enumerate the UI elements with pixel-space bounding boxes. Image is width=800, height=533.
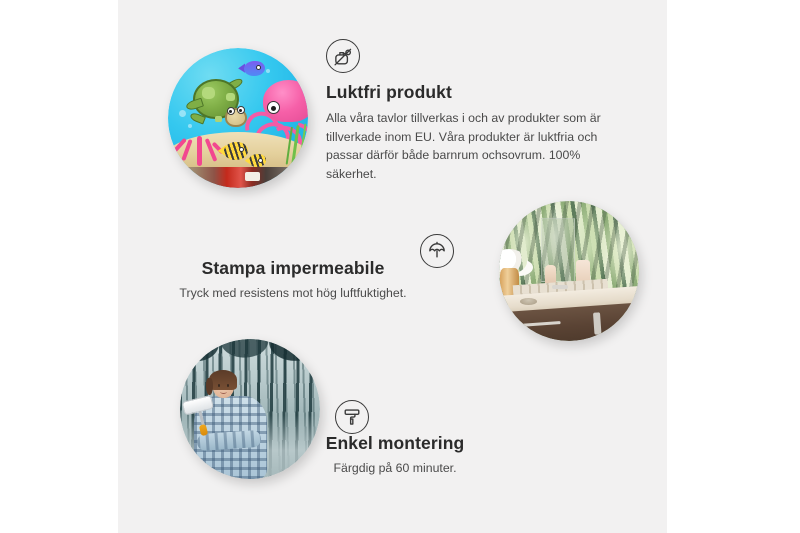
no-fragrance-icon	[326, 39, 360, 73]
yellow-fish-icon	[249, 154, 266, 167]
blue-fish-icon	[244, 61, 265, 76]
scene-foreground-strip	[168, 167, 308, 188]
fish-eye	[239, 147, 244, 152]
feature-description: Tryck med resistens mot hög luftfuktighe…	[118, 284, 468, 303]
feature-image-waterproof	[499, 201, 639, 341]
product-feature-panel: Luktfri produkt Alla våra tavlor tillver…	[118, 0, 667, 533]
bubble-icon	[179, 110, 186, 117]
yellow-fish-icon	[224, 142, 248, 160]
paint-roller-icon	[335, 400, 369, 434]
underwater-scene-illustration	[168, 48, 308, 188]
feature-text-easy-mounting: Enkel montering Färgdig på 60 minuter.	[266, 433, 524, 478]
bubble-icon	[266, 69, 270, 73]
feature-description: Alla våra tavlor tillverkas i och av pro…	[326, 109, 614, 184]
person-eye	[227, 384, 230, 387]
soap-dish	[520, 298, 537, 305]
turtle-eye	[227, 107, 235, 115]
feature-text-odorless: Luktfri produkt Alla våra tavlor tillver…	[326, 82, 614, 184]
fish-body	[224, 142, 248, 160]
octopus-eye	[267, 101, 280, 114]
feature-description: Färgdig på 60 minuter.	[266, 459, 524, 478]
person-smile	[220, 389, 228, 394]
pink-coral-icon	[176, 118, 224, 166]
fish-body	[244, 61, 265, 76]
feature-title: Enkel montering	[266, 433, 524, 454]
faucet	[552, 285, 567, 289]
feature-text-waterproof: Stampa impermeabile Tryck med resistens …	[118, 258, 468, 303]
feature-image-odorless	[168, 48, 308, 188]
fish-eye	[258, 158, 263, 163]
person-figure	[188, 373, 275, 479]
bathroom-photo	[499, 201, 639, 341]
fish-eye	[256, 65, 261, 70]
feature-title: Stampa impermeabile	[118, 258, 468, 279]
person-hair	[209, 370, 237, 389]
feature-title: Luktfri produkt	[326, 82, 614, 103]
screenshot-stage: Luktfri produkt Alla våra tavlor tillver…	[0, 0, 800, 533]
